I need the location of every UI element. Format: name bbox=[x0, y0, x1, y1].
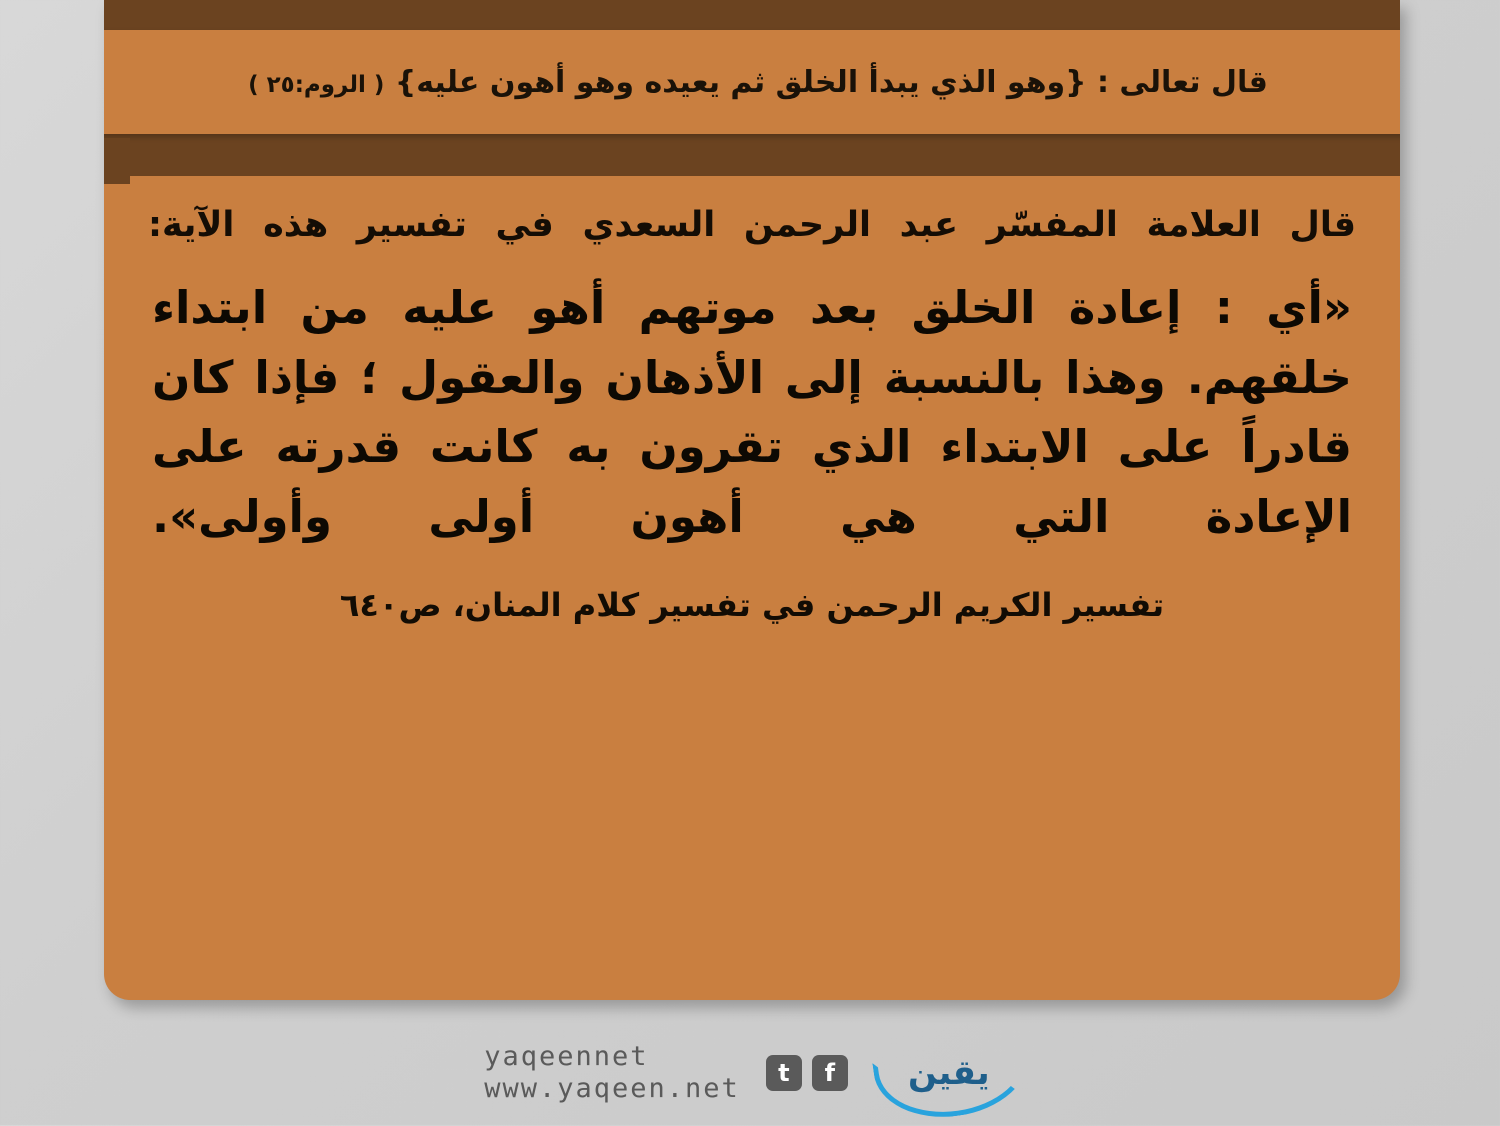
yaqeen-logo: يقين bbox=[874, 1034, 1024, 1112]
ayah-ribbon: قال تعالى : {وهو الذي يبدأ الخلق ثم يعيد… bbox=[104, 30, 1400, 134]
content-area: قال العلامة المفسّر عبد الرحمن السعدي في… bbox=[104, 200, 1400, 656]
facebook-icon[interactable]: f bbox=[812, 1055, 848, 1091]
ayah-ribbon-inner: قال تعالى : {وهو الذي يبدأ الخلق ثم يعيد… bbox=[104, 30, 1400, 134]
left-notch bbox=[104, 138, 130, 184]
social-handle[interactable]: yaqeennet bbox=[484, 1041, 740, 1072]
footer-links: yaqeennet www.yaqeen.net bbox=[484, 1041, 740, 1103]
twitter-icon[interactable]: t bbox=[766, 1055, 802, 1091]
header-band: قال تعالى : {وهو الذي يبدأ الخلق ثم يعيد… bbox=[104, 0, 1400, 176]
ayah-reference: ( الروم:٢٥ ) bbox=[248, 72, 384, 98]
ayah-main-text: قال تعالى : {وهو الذي يبدأ الخلق ثم يعيد… bbox=[395, 65, 1268, 100]
social-icons: f t bbox=[766, 1055, 848, 1091]
poster-card: قال تعالى : {وهو الذي يبدأ الخلق ثم يعيد… bbox=[104, 0, 1400, 1000]
ayah-text: قال تعالى : {وهو الذي يبدأ الخلق ثم يعيد… bbox=[248, 65, 1268, 100]
quote-paragraph: «أي : إعادة الخلق بعد موتهم أهو عليه من … bbox=[152, 273, 1352, 552]
source-citation: تفسير الكريم الرحمن في تفسير كلام المنان… bbox=[138, 586, 1366, 624]
intro-paragraph: قال العلامة المفسّر عبد الرحمن السعدي في… bbox=[148, 200, 1356, 251]
logo-label: يقين bbox=[908, 1053, 990, 1093]
footer: يقين f t yaqeennet www.yaqeen.net bbox=[0, 1020, 1500, 1125]
website-url[interactable]: www.yaqeen.net bbox=[484, 1073, 740, 1104]
